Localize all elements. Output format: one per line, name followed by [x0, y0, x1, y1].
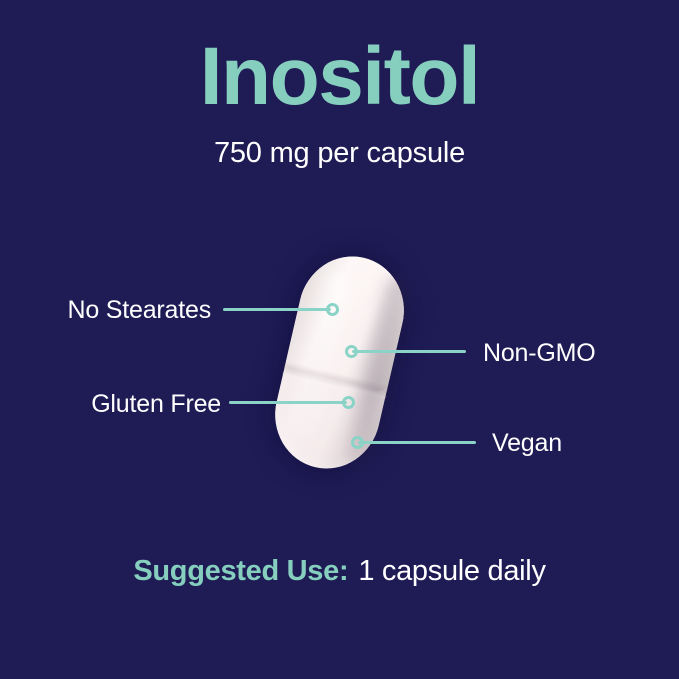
suggested-use-label: Suggested Use: — [133, 555, 348, 587]
callout-label-gluten-free: Gluten Free — [91, 389, 221, 419]
product-dosage-subtitle: 750 mg per capsule — [0, 135, 679, 171]
callout-line-gluten-free — [229, 401, 347, 404]
callout-line-non-gmo — [352, 350, 466, 353]
callout-line-vegan — [358, 441, 476, 444]
suggested-use-value: 1 capsule daily — [358, 555, 545, 587]
callout-label-non-gmo: Non-GMO — [483, 338, 596, 368]
suggested-use: Suggested Use:1 capsule daily — [0, 552, 679, 590]
callout-dot-vegan — [351, 436, 364, 449]
callout-dot-no-stearates — [326, 303, 339, 316]
callout-label-vegan: Vegan — [492, 428, 562, 458]
callout-dot-gluten-free — [342, 396, 355, 409]
page-title: Inositol — [0, 34, 679, 120]
capsule-image — [264, 246, 415, 479]
callout-line-no-stearates — [223, 308, 331, 311]
callout-dot-non-gmo — [345, 345, 358, 358]
product-infographic: Inositol 750 mg per capsule No Stearates… — [0, 0, 679, 679]
callout-label-no-stearates: No Stearates — [67, 295, 211, 325]
